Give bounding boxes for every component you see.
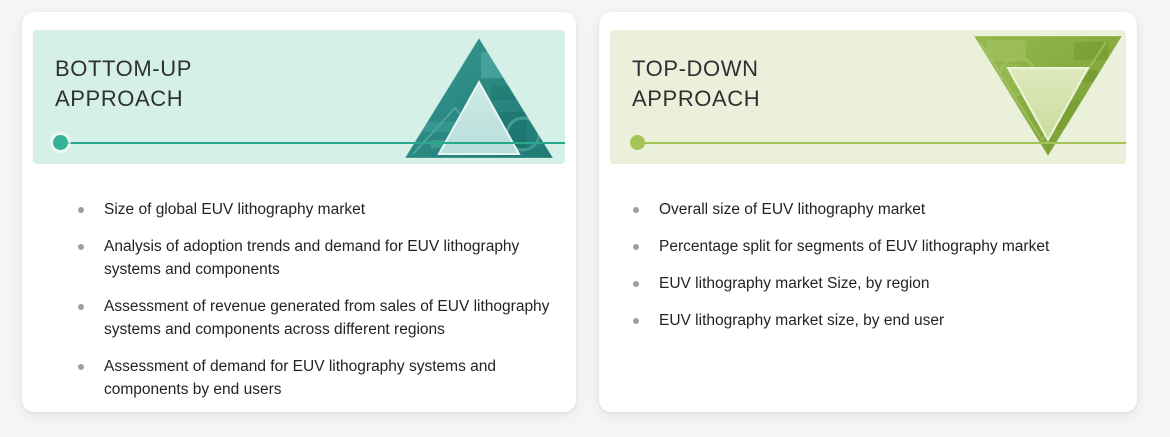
card-title-top-down: TOP-DOWN APPROACH: [632, 54, 760, 114]
list-item-label: EUV lithography market Size, by region: [659, 275, 930, 292]
list-item-label: Percentage split for segments of EUV lit…: [659, 238, 1049, 255]
list-item: Assessment of revenue generated from sal…: [74, 295, 558, 341]
list-item: Percentage split for segments of EUV lit…: [629, 235, 1119, 258]
accent-rule-bottom-up: [61, 142, 565, 144]
bullet-dot-icon: [78, 304, 84, 310]
card-header-bottom-up: BOTTOM-UP APPROACH: [33, 30, 565, 164]
bullet-dot-icon: [633, 281, 639, 287]
approach-comparison-panel: BOTTOM-UP APPROACH Size of global EUV li…: [0, 0, 1170, 437]
list-item-label: EUV lithography market size, by end user: [659, 312, 944, 329]
accent-dot-bottom-up: [53, 135, 68, 150]
list-item-label: Size of global EUV lithography market: [104, 201, 365, 218]
list-item-label: Assessment of revenue generated from sal…: [104, 298, 549, 338]
card-header-top-down: TOP-DOWN APPROACH: [610, 30, 1126, 164]
bullet-list-bottom-up: Size of global EUV lithography market An…: [22, 198, 576, 412]
accent-dot-top-down: [630, 135, 645, 150]
bullet-dot-icon: [78, 364, 84, 370]
accent-rule-top-down: [638, 142, 1126, 144]
list-item-label: Overall size of EUV lithography market: [659, 201, 925, 218]
bullet-dot-icon: [78, 207, 84, 213]
bullet-dot-icon: [633, 318, 639, 324]
list-item: Size of global EUV lithography market: [74, 198, 558, 221]
card-bottom-up: BOTTOM-UP APPROACH Size of global EUV li…: [22, 12, 576, 412]
bullet-dot-icon: [78, 244, 84, 250]
list-item: Assessment of demand for EUV lithography…: [74, 355, 558, 401]
bullet-list-top-down: Overall size of EUV lithography market P…: [599, 198, 1137, 346]
list-item: Overall size of EUV lithography market: [629, 198, 1119, 221]
bullet-dot-icon: [633, 207, 639, 213]
list-item-label: Analysis of adoption trends and demand f…: [104, 238, 519, 278]
list-item: Analysis of adoption trends and demand f…: [74, 235, 558, 281]
bullet-dot-icon: [633, 244, 639, 250]
list-item: EUV lithography market size, by end user: [629, 309, 1119, 332]
list-item: EUV lithography market Size, by region: [629, 272, 1119, 295]
card-title-bottom-up: BOTTOM-UP APPROACH: [55, 54, 192, 114]
list-item-label: Assessment of demand for EUV lithography…: [104, 358, 496, 398]
card-top-down: TOP-DOWN APPROACH Overall size of EUV li…: [599, 12, 1137, 412]
